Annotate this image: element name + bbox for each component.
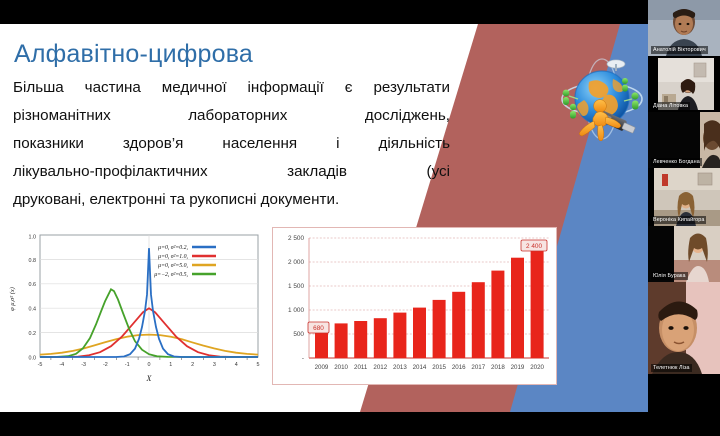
x-tick: 5 [257, 362, 260, 368]
x-tick: 2011 [354, 364, 368, 371]
participant-name: Левченко Богдана [651, 158, 702, 166]
globe-usb-network-graphic [556, 55, 648, 147]
bar [472, 282, 485, 358]
bar [335, 323, 348, 358]
participant-name: Діана Літовка [651, 102, 690, 110]
presentation-slide: Алфавітно-цифрова Більша частина медично… [0, 24, 720, 412]
x-tick: -5 [38, 362, 43, 368]
bar [452, 292, 465, 358]
x-tick: 2 [191, 362, 194, 368]
participant-tile[interactable]: Телетнюк Ліза [648, 282, 720, 436]
bar [433, 300, 446, 358]
participant-name: Телетнюк Ліза [651, 364, 692, 372]
y-tick: 2 500 [288, 235, 304, 242]
participant-tile[interactable]: Юлія Бурака [648, 226, 720, 282]
y-tick: 0.4 [29, 307, 37, 313]
x-tick: 2017 [471, 364, 485, 371]
y-tick: 500 [293, 331, 304, 338]
x-tick: -1 [125, 362, 130, 368]
body-line: друковані, електронні та рукописні докум… [13, 186, 450, 214]
body-line: різноманітних лабораторних досліджень, [13, 102, 450, 130]
y-axis-label: φ μ,σ² (x) [9, 287, 16, 311]
bar [393, 313, 406, 358]
participant-name: Юлія Бурака [651, 272, 688, 280]
bar [491, 271, 504, 358]
participant-tile[interactable]: Анатолій Вікторович [648, 0, 720, 56]
legend-label: μ=0, σ²=1.0, [158, 254, 188, 260]
x-tick: 2014 [413, 364, 427, 371]
x-tick: 4 [235, 362, 238, 368]
body-line: Більша частина медичної інформації є рез… [13, 74, 450, 102]
y-tick: 2 000 [288, 259, 304, 266]
legend-label: μ=−2, σ²=0.5, [154, 272, 188, 278]
x-tick: -2 [103, 362, 108, 368]
yearly-bar-chart: - 500 1 000 1 500 2 000 2 500 [272, 227, 557, 385]
x-tick: -3 [81, 362, 86, 368]
x-tick: 2020 [530, 364, 544, 371]
body-line: показники здоров’я населення і діяльніст… [13, 130, 450, 158]
bar [413, 308, 426, 358]
y-tick: 1.0 [29, 235, 37, 241]
bar [511, 258, 524, 358]
x-tick: 2009 [315, 364, 329, 371]
bar [374, 318, 387, 358]
participant-tile[interactable]: Вероніка Кипайгора [648, 168, 720, 226]
body-line: лікувально-профілактичних закладів (усі [13, 158, 450, 186]
participant-tile[interactable]: Левченко Богдана [648, 112, 720, 168]
legend-label: μ=0, σ²=5.0, [158, 263, 188, 269]
bar [531, 243, 544, 358]
x-tick: 2016 [452, 364, 466, 371]
svg-text:680: 680 [313, 325, 324, 332]
page-title: Алфавітно-цифрова [14, 40, 444, 69]
x-tick: 2013 [393, 364, 407, 371]
y-tick: 1 500 [288, 283, 304, 290]
y-tick: 0.0 [29, 355, 37, 361]
x-tick: -4 [59, 362, 64, 368]
legend-label: μ=0, σ²=0.2, [158, 245, 188, 251]
x-tick: 2019 [511, 364, 525, 371]
y-tick: 0.6 [29, 282, 37, 288]
x-tick: 1 [169, 362, 172, 368]
y-tick: 1 000 [288, 307, 304, 314]
x-tick: 0 [148, 362, 151, 368]
participant-tile[interactable]: Діана Літовка [648, 56, 720, 112]
participant-name: Анатолій Вікторович [651, 46, 708, 54]
slide-body-text: Більша частина медичної інформації є рез… [13, 74, 450, 214]
participant-video-rail[interactable]: Анатолій Вікторович Діана Літовка [648, 0, 720, 436]
x-tick: 2012 [373, 364, 387, 371]
y-tick: 0.8 [29, 258, 37, 264]
y-tick: 0.2 [29, 331, 37, 337]
svg-text:2 400: 2 400 [526, 243, 542, 250]
x-tick: 2018 [491, 364, 505, 371]
x-tick: 3 [213, 362, 216, 368]
data-label-first: 680 [308, 322, 329, 333]
participant-name: Вероніка Кипайгора [651, 216, 706, 224]
bar [354, 321, 367, 358]
y-tick: - [302, 355, 304, 362]
x-tick: 2015 [432, 364, 446, 371]
participant-video [648, 282, 720, 436]
screen: Алфавітно-цифрова Більша частина медично… [0, 0, 720, 436]
normal-distribution-chart: 0.0 0.2 0.4 0.6 0.8 1.0 -5 -4 -3 -2 -1 0… [2, 229, 268, 389]
data-label-last: 2 400 [521, 240, 547, 251]
x-tick: 2010 [334, 364, 348, 371]
